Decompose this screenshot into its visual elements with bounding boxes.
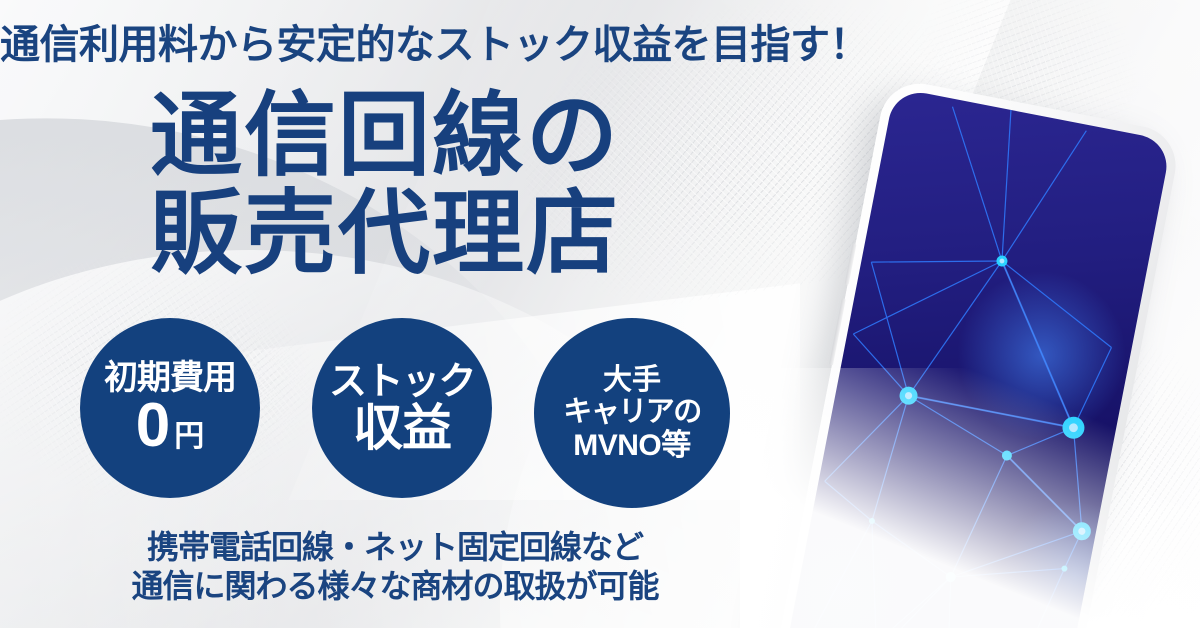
phone-illustration — [792, 70, 1200, 628]
badge-group: 初期費用 0 円 ストック 収益 大手 キャリアの MVNO等 — [72, 318, 772, 508]
badge-carrier-mvno-line-2: キャリアの — [563, 396, 701, 428]
phone-screen — [784, 87, 1172, 628]
page-title-line-1: 通信回線の — [0, 88, 770, 186]
headline: 通信利用料から安定的なストック収益を目指す！ — [0, 24, 790, 66]
page-title-line-2: 販売代理店 — [0, 186, 770, 284]
badge-initial-cost-value: 0 円 — [136, 397, 204, 456]
network-nodes-icon — [784, 87, 1172, 628]
badge-stock-revenue: ストック 収益 — [312, 318, 492, 498]
badge-initial-cost-unit: 円 — [174, 411, 204, 455]
caption-line-2: 通信に関わる様々な商材の取扱が可能 — [0, 567, 790, 606]
volume-up-button-icon — [845, 243, 857, 285]
caption-line-1: 携帯電話回線・ネット固定回線など — [0, 528, 790, 567]
caption: 携帯電話回線・ネット固定回線など 通信に関わる様々な商材の取扱が可能 — [0, 528, 790, 606]
badge-carrier-mvno-line-3: MVNO等 — [573, 429, 691, 463]
promo-banner: 通信利用料から安定的なストック収益を目指す！ 通信回線の 販売代理店 初期費用 … — [0, 0, 1200, 628]
badge-stock-revenue-line-1: ストック — [329, 363, 475, 403]
badge-stock-revenue-line-2: 収益 — [353, 403, 451, 453]
text-content: 通信利用料から安定的なストック収益を目指す！ 通信回線の 販売代理店 初期費用 … — [0, 0, 790, 628]
page-title: 通信回線の 販売代理店 — [0, 88, 770, 283]
badge-initial-cost: 初期費用 0 円 — [80, 318, 260, 498]
badge-carrier-mvno: 大手 キャリアの MVNO等 — [534, 318, 730, 508]
badge-carrier-mvno-line-1: 大手 — [603, 364, 661, 396]
badge-initial-cost-label: 初期費用 — [104, 361, 236, 395]
badge-initial-cost-number: 0 — [136, 397, 170, 456]
smartphone-device — [774, 77, 1183, 628]
